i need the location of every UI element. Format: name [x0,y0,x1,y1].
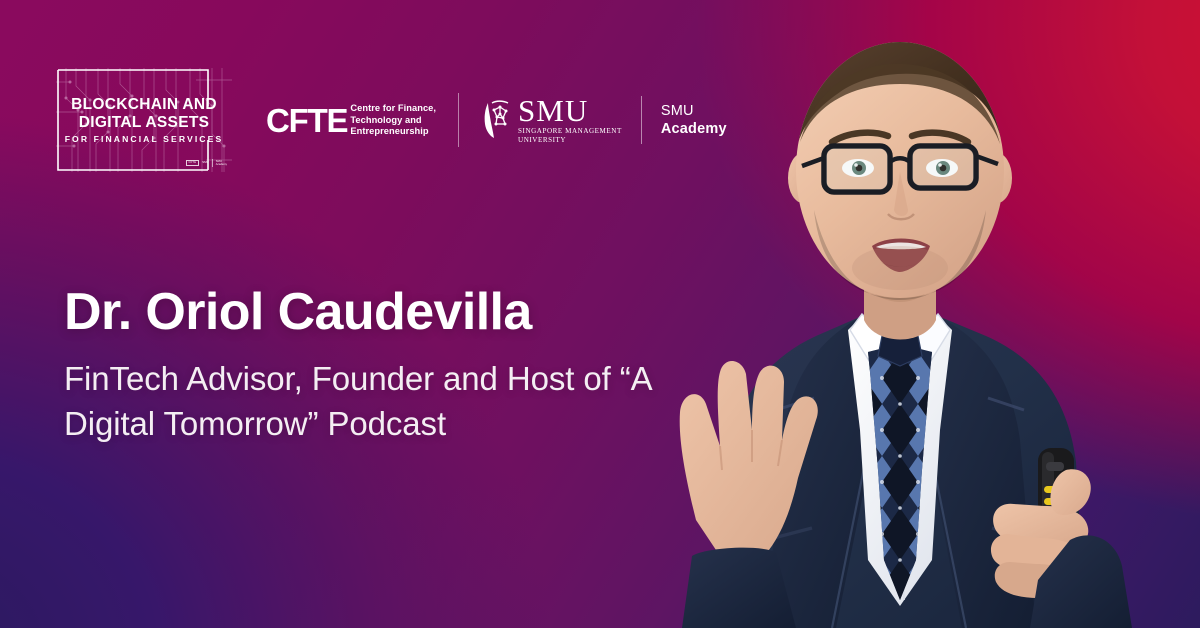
smu-academy-logo: SMU Academy [661,102,727,138]
speaker-role: FinTech Advisor, Founder and Host of “A … [64,356,684,446]
blockchain-digital-assets-logo: BLOCKCHAIN AND DIGITAL ASSETS FOR FINANC… [56,68,232,172]
smu-academy-line-1: SMU [661,102,727,120]
smu-wordmark: SMU [518,96,622,126]
smu-subtitle-line-2: UNIVERSITY [518,136,566,144]
smu-subtitle-line-1: SINGAPORE MANAGEMENT [518,127,622,135]
smu-academy-line-2: Academy [661,120,727,138]
speaker-banner: BLOCKCHAIN AND DIGITAL ASSETS FOR FINANC… [0,0,1200,628]
cfte-tagline-line-2: Technology and [350,115,421,125]
logo-divider-1 [458,93,459,147]
bda-line-3: FOR FINANCIAL SERVICES [64,134,224,144]
mini-smu-logo: SMU [202,161,209,164]
cfte-tagline-line-1: Centre for Finance, [350,103,436,113]
smu-logo: SMU SINGAPORE MANAGEMENT UNIVERSITY SMU … [481,96,727,144]
smu-crest-icon [481,100,511,140]
bda-line-2: DIGITAL ASSETS [64,114,224,132]
bda-line-1: BLOCKCHAIN AND [64,96,224,114]
mini-cfte-logo: CFTE [186,160,200,167]
headline-block: Dr. Oriol Caudevilla FinTech Advisor, Fo… [64,282,684,446]
mini-smu-mark: SMU [202,161,209,164]
cfte-tagline: Centre for Finance, Technology and Entre… [350,103,436,137]
cfte-tagline-line-3: Entrepreneurship [350,126,428,136]
mini-academy-line-2: Academy [216,163,227,166]
partner-mini-logos: CFTE SMU SMU Academy [186,159,227,167]
logo-strip: BLOCKCHAIN AND DIGITAL ASSETS FOR FINANC… [56,68,727,172]
smu-subtitle: SINGAPORE MANAGEMENT UNIVERSITY [518,127,622,144]
mini-divider [212,159,213,167]
speaker-name: Dr. Oriol Caudevilla [64,282,684,342]
mini-smu-academy-logo: SMU Academy [216,160,227,166]
cfte-wordmark: CFTE [266,104,347,137]
smu-wordmark-block: SMU SINGAPORE MANAGEMENT UNIVERSITY [518,96,622,144]
head [796,36,1004,300]
cfte-logo: CFTE Centre for Finance, Technology and … [266,102,436,137]
logo-divider-2 [641,96,642,144]
